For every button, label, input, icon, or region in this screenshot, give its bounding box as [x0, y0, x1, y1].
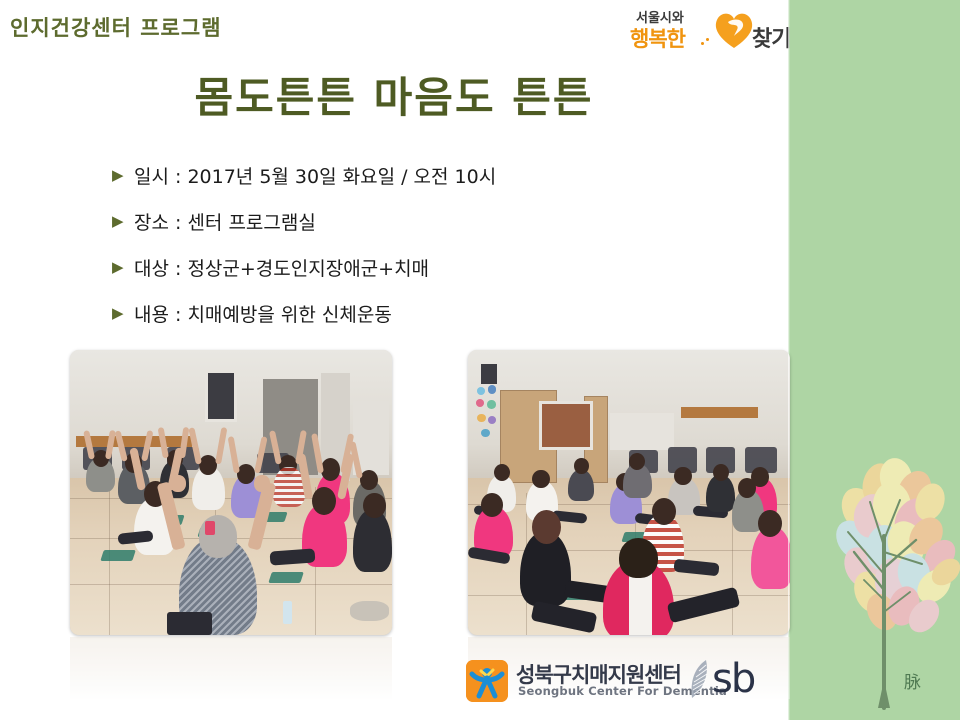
- page-title: 몸도튼튼 마음도 튼튼: [0, 64, 788, 125]
- program-header-label: 인지건강센터 프로그램: [10, 12, 222, 42]
- seongbuk-center-logo: 성북구치매지원센터 Seongbuk Center For Dementia s…: [466, 658, 764, 708]
- feather-icon: [686, 658, 714, 702]
- slide-root: 脉 인지건강센터 프로그램 서울시와 행복한 찾기 몸도튼튼 마음도 튼튼 ▶ …: [0, 0, 960, 720]
- list-item: ▶ 장소 : 센터 프로그램실: [112, 198, 752, 244]
- program-photo-left: [70, 350, 392, 635]
- list-item-text: 대상 : 정상군+경도인지장애군+치매: [134, 254, 429, 281]
- triangle-bullet-icon: ▶: [112, 214, 134, 229]
- photo-reflection-left: [70, 637, 392, 699]
- list-item-text: 장소 : 센터 프로그램실: [134, 208, 316, 235]
- program-photo-right: [468, 350, 790, 635]
- decorative-tree: 脉: [826, 440, 960, 720]
- program-details-list: ▶ 일시 : 2017년 5월 30일 화요일 / 오전 10시 ▶ 장소 : …: [112, 152, 752, 336]
- list-item: ▶ 대상 : 정상군+경도인지장애군+치매: [112, 244, 752, 290]
- triangle-bullet-icon: ▶: [112, 306, 134, 321]
- side-panel-edge: [788, 0, 790, 720]
- photo-scene-left: [70, 350, 392, 635]
- triangle-bullet-icon: ▶: [112, 168, 134, 183]
- heart-icon: [712, 10, 756, 50]
- seoul-happiness-logo: 서울시와 행복한 찾기: [628, 6, 784, 56]
- center-mark-icon: [466, 660, 508, 702]
- list-item: ▶ 일시 : 2017년 5월 30일 화요일 / 오전 10시: [112, 152, 752, 198]
- seoul-logo-big-line: 행복한: [630, 23, 685, 53]
- seoul-logo-suffix: 찾기: [752, 21, 790, 53]
- list-item-text: 일시 : 2017년 5월 30일 화요일 / 오전 10시: [134, 162, 496, 189]
- triangle-bullet-icon: ▶: [112, 260, 134, 275]
- list-item-text: 내용 : 치매예방을 위한 신체운동: [134, 300, 392, 327]
- list-item: ▶ 내용 : 치매예방을 위한 신체운동: [112, 290, 752, 336]
- sb-wordmark: sb: [712, 656, 754, 702]
- tree-signature: 脉: [904, 673, 921, 693]
- photo-scene-right: [468, 350, 790, 635]
